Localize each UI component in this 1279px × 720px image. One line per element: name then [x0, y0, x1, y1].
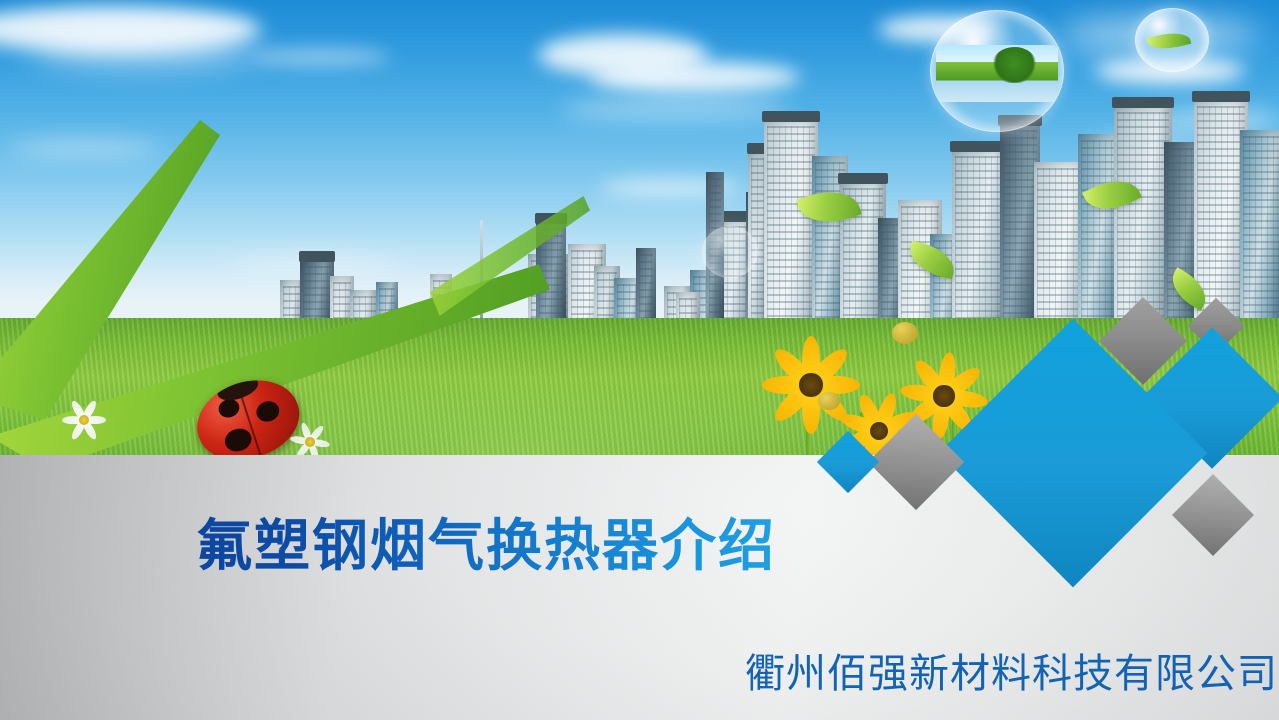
flower-bud-icon	[892, 322, 918, 344]
leaf-icon	[1146, 28, 1190, 54]
eco-bubble-leaf	[1135, 8, 1209, 72]
eco-bubble-empty	[702, 226, 758, 278]
flower-bud-icon	[818, 392, 840, 410]
company-name: 衢州佰强新材料科技有限公司	[745, 641, 1278, 699]
page-title: 氟塑钢烟气换热器介绍	[196, 516, 776, 576]
tree-icon	[992, 47, 1037, 83]
white-flower-icon	[60, 396, 108, 444]
presentation-title-slide: 氟塑钢烟气换热器介绍 衢州佰强新材料科技有限公司	[0, 0, 1279, 720]
eco-bubble-tree	[930, 10, 1064, 132]
white-flower-icon	[288, 420, 332, 458]
